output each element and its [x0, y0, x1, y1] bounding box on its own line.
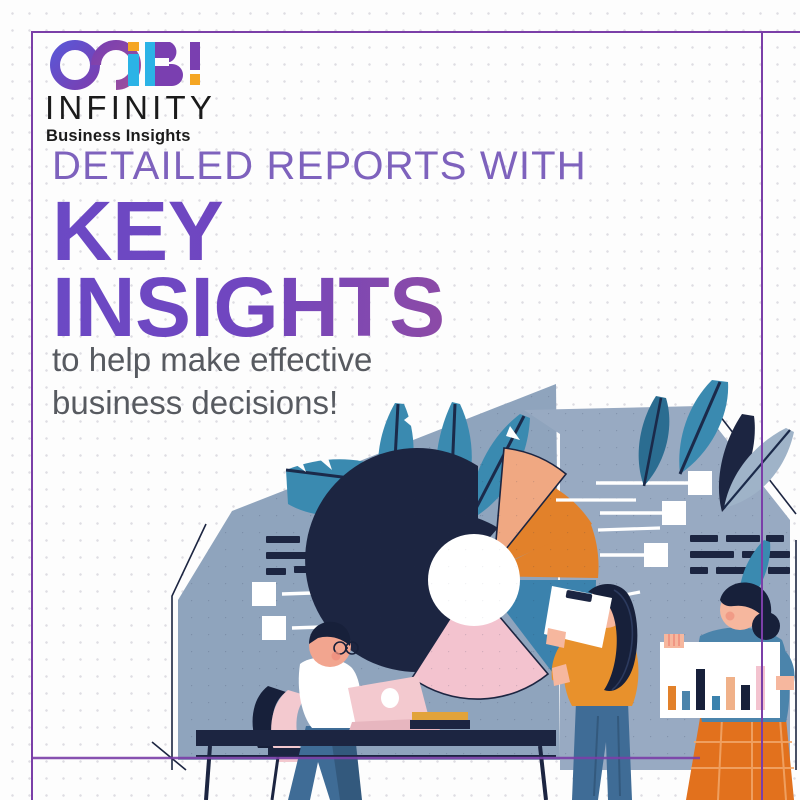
poster-canvas: INFINITY Business Insights DETAILED REPO…	[0, 0, 800, 800]
headline-block: DETAILED REPORTS WITH KEY INSIGHTS	[52, 146, 587, 345]
headline-eyebrow: DETAILED REPORTS WITH	[52, 146, 587, 186]
subheading-line-2: business decisions!	[52, 382, 372, 425]
headline-line-2: INSIGHTS	[52, 271, 587, 345]
subheading-line-1: to help make effective	[52, 339, 372, 382]
brand-name: INFINITY	[45, 91, 254, 124]
headline-line-1: KEY	[52, 195, 587, 269]
subheading: to help make effective business decision…	[52, 339, 372, 425]
poster-frame-right-edge	[761, 31, 763, 800]
brand-tagline: Business Insights	[46, 128, 254, 145]
infinity-ib-logo-icon	[44, 38, 244, 90]
brand-logo[interactable]: INFINITY Business Insights	[44, 38, 254, 145]
